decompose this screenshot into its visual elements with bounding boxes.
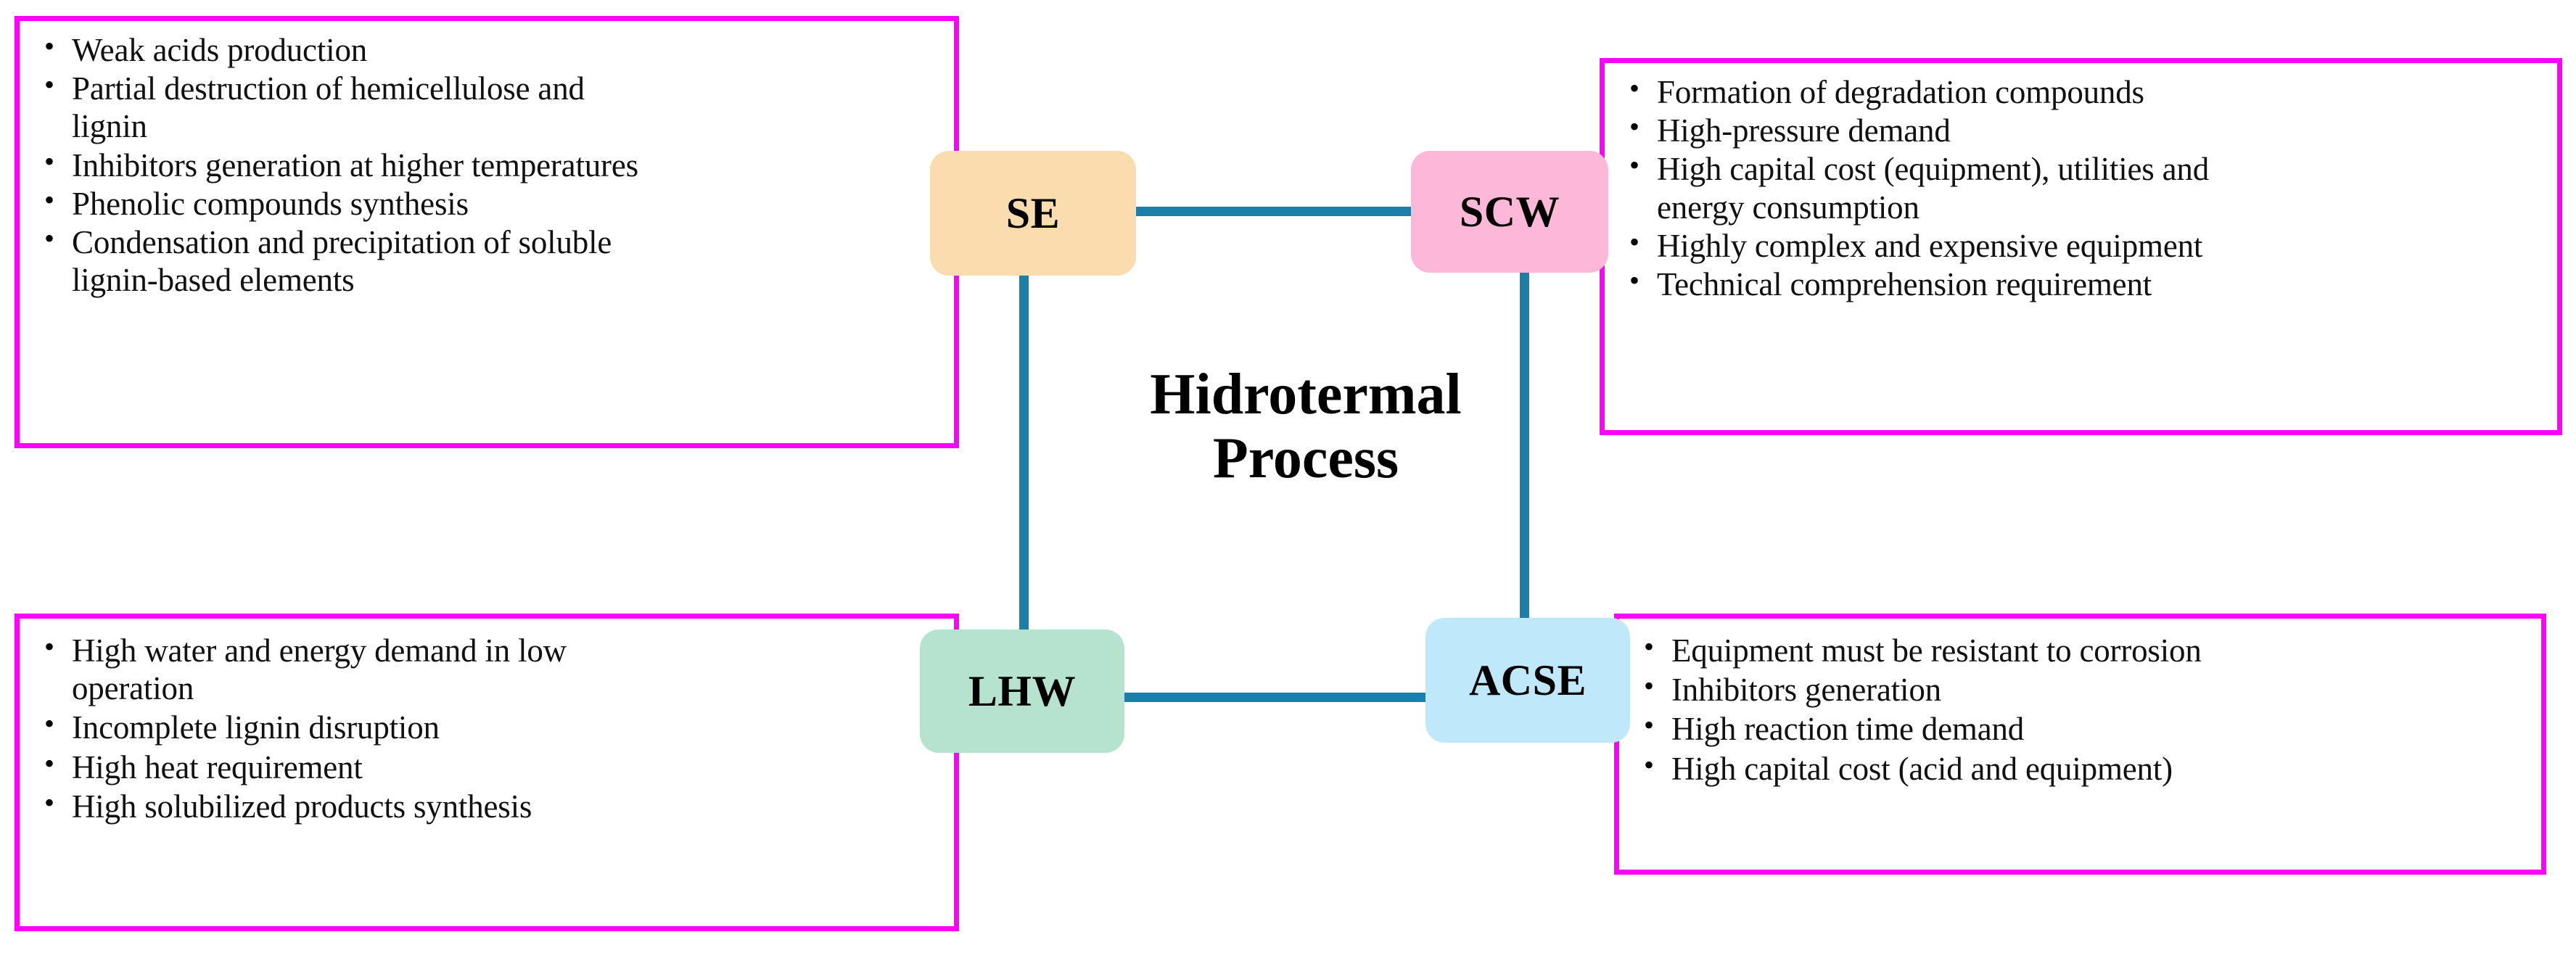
list-item: Incomplete lignin disruption	[34, 709, 947, 746]
list-item: Highly complex and expensive equipment	[1619, 227, 2550, 265]
connector-lhw-to-acse	[1117, 693, 1435, 702]
hydrothermal-process-diagram: Weak acids production Partial destructio…	[0, 0, 2576, 953]
list-item: Inhibitors generation	[1634, 671, 2534, 709]
connector-se-to-scw	[1126, 207, 1438, 216]
list-item: High heat requirement	[34, 748, 947, 786]
list-item: High reaction time demand	[1634, 710, 2534, 748]
list-item: High capital cost (equipment), utilities…	[1619, 150, 2550, 226]
list-item: High water and energy demand in low oper…	[34, 632, 947, 707]
node-scw[interactable]: SCW	[1411, 151, 1608, 273]
detail-list-acse: Equipment must be resistant to corrosion…	[1634, 632, 2534, 788]
list-item: Condensation and precipitation of solubl…	[34, 223, 947, 299]
list-item: Equipment must be resistant to corrosion	[1634, 632, 2534, 669]
detail-panel-lhw: High water and energy demand in low oper…	[15, 614, 959, 931]
detail-panel-se: Weak acids production Partial destructio…	[15, 16, 959, 448]
node-acse[interactable]: ACSE	[1425, 618, 1630, 743]
detail-panel-acse: Equipment must be resistant to corrosion…	[1614, 614, 2546, 875]
detail-list-scw: Formation of degradation compounds High-…	[1619, 73, 2550, 303]
node-lhw[interactable]: LHW	[920, 630, 1124, 753]
list-item: High capital cost (acid and equipment)	[1634, 750, 2534, 788]
node-se[interactable]: SE	[930, 151, 1136, 276]
list-item: Phenolic compounds synthesis	[34, 185, 947, 223]
list-item: Technical comprehension requirement	[1619, 265, 2550, 303]
list-item: High solubilized products synthesis	[34, 788, 947, 825]
list-item: Formation of degradation compounds	[1619, 73, 2550, 111]
diagram-center-title: Hidrotermal Process	[1074, 363, 1538, 490]
list-item: Inhibitors generation at higher temperat…	[34, 147, 947, 184]
list-item: High-pressure demand	[1619, 112, 2550, 149]
list-item: Weak acids production	[34, 31, 947, 69]
detail-list-lhw: High water and energy demand in low oper…	[34, 632, 947, 825]
detail-list-se: Weak acids production Partial destructio…	[34, 31, 947, 299]
connector-se-to-lhw	[1019, 261, 1029, 638]
list-item: Partial destruction of hemicellulose and…	[34, 70, 947, 145]
detail-panel-scw: Formation of degradation compounds High-…	[1600, 58, 2562, 435]
